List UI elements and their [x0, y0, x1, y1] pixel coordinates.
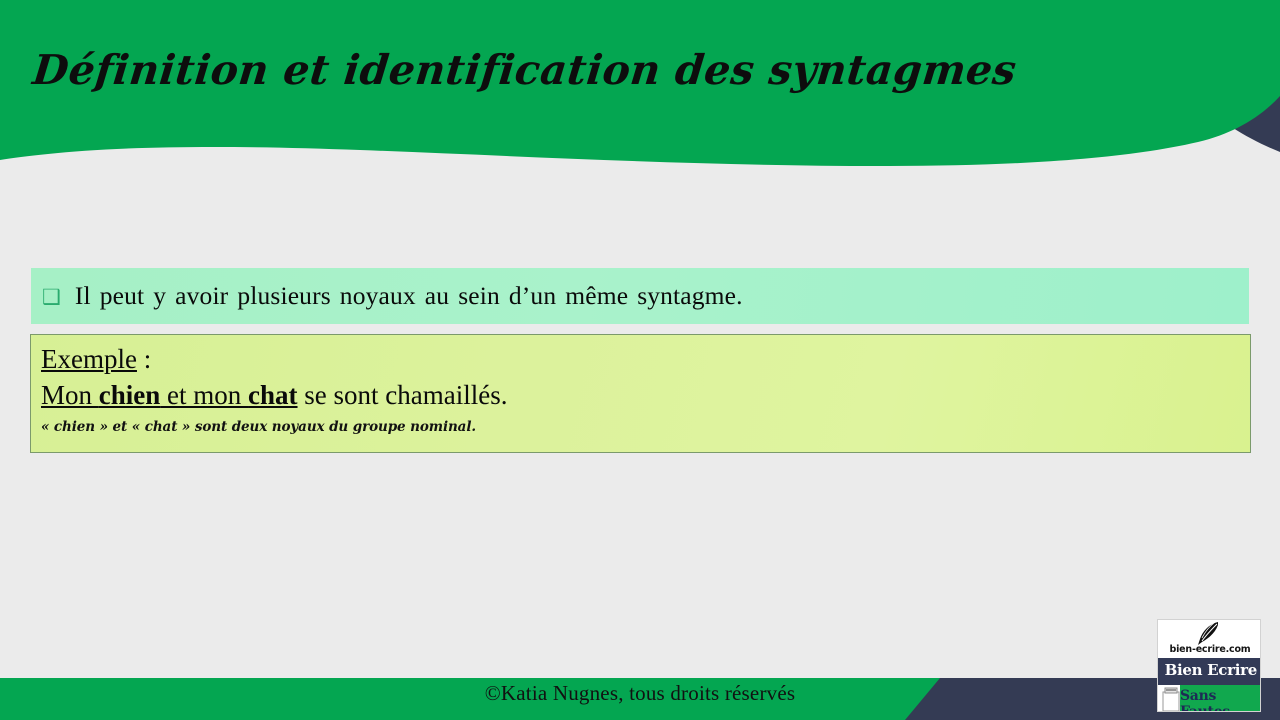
checkbox-bullet-icon: ❑: [42, 287, 61, 308]
logo-domain-text: bien-ecrire.com: [1158, 644, 1261, 655]
logo-green-band: Sans Fautes: [1180, 685, 1261, 712]
sentence-part-2: et mon: [160, 380, 248, 410]
logo-navy-band: Bien Ecrire: [1158, 658, 1261, 685]
sentence-part-3: se sont chamaillés.: [298, 380, 508, 410]
example-box: Exemple : Mon chien et mon chat se sont …: [30, 334, 1251, 453]
logo-top-area: bien-ecrire.com: [1158, 620, 1260, 657]
statement-text: Il peut y avoir plusieurs noyaux au sein…: [75, 281, 743, 311]
example-label-suffix: :: [137, 344, 151, 374]
inkpot-icon: [1160, 682, 1182, 712]
sentence-bold-chien: chien: [99, 380, 161, 410]
example-sentence: Mon chien et mon chat se sont chamaillés…: [41, 378, 1250, 413]
example-label-line: Exemple :: [41, 342, 1250, 377]
footer-copyright: ©Katia Nugnes, tous droits réservés: [0, 681, 1280, 706]
example-inner: Exemple : Mon chien et mon chat se sont …: [31, 335, 1250, 435]
logo-brand-line-1: Bien Ecrire: [1165, 661, 1257, 679]
logo-brand-line-2: Sans Fautes: [1180, 688, 1258, 712]
sentence-bold-chat: chat: [248, 380, 298, 410]
page-title: Définition et identification des syntagm…: [30, 46, 1018, 94]
slide-root: Définition et identification des syntagm…: [0, 0, 1280, 720]
example-caption: « chien » et « chat » sont deux noyaux d…: [41, 419, 1250, 435]
example-sentence-underlined: Mon chien et mon chat: [41, 380, 298, 410]
logo-bien-ecrire[interactable]: bien-ecrire.com Bien Ecrire Sans Fautes: [1157, 619, 1261, 712]
example-label: Exemple: [41, 344, 137, 374]
statement-box: ❑ Il peut y avoir plusieurs noyaux au se…: [31, 268, 1249, 324]
statement-inner: ❑ Il peut y avoir plusieurs noyaux au se…: [31, 281, 743, 311]
sentence-part-1: Mon: [41, 380, 99, 410]
